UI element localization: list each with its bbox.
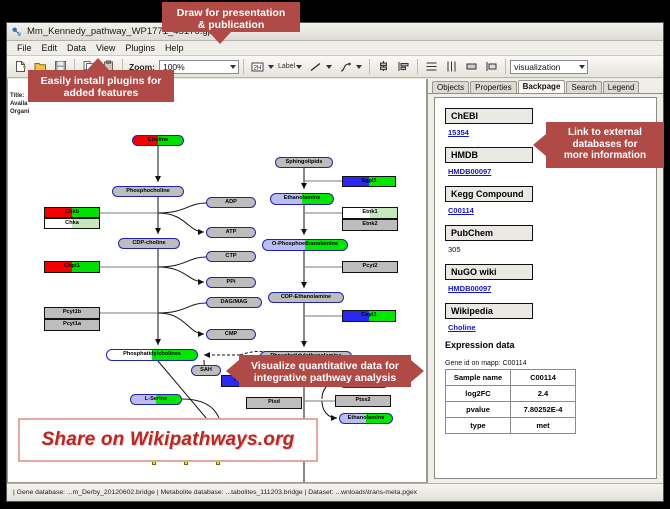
db-name-chebi: ChEBI bbox=[445, 108, 533, 124]
table-row: log2FC 2.4 bbox=[446, 386, 576, 402]
metabolite-cdp-ethanolamine[interactable]: CDP-Ethanolamine bbox=[268, 292, 344, 303]
db-link-wikipedia[interactable]: Choline bbox=[448, 323, 656, 332]
status-bar: | Gene database: ...m_Derby_20120602.bri… bbox=[7, 483, 663, 501]
annotation-plugins-callout: Easily install plugins foradded features bbox=[28, 70, 174, 102]
db-block-nugo: NuGO wiki HMDB00097 bbox=[445, 262, 656, 293]
exp-value-sample-name: C00114 bbox=[511, 370, 576, 386]
annotation-share-banner: Share on Wikipathways.org bbox=[18, 418, 318, 462]
metabolite-sah[interactable]: SAH bbox=[191, 365, 221, 376]
menu-item-file[interactable]: File bbox=[12, 43, 37, 53]
annotation-plugins-pointer bbox=[87, 58, 109, 70]
table-row: Sample name C00114 bbox=[446, 370, 576, 386]
interaction-tool-icon[interactable] bbox=[336, 57, 355, 76]
tab-search[interactable]: Search bbox=[566, 81, 601, 93]
db-name-nugo: NuGO wiki bbox=[445, 264, 533, 280]
gene-chka[interactable]: Chka bbox=[44, 218, 100, 229]
db-name-kegg: Kegg Compound bbox=[445, 186, 533, 202]
line-dropdown-icon[interactable] bbox=[326, 65, 332, 69]
metabolite-phosphatidylcholines[interactable]: Phosphatidylcholines bbox=[106, 349, 198, 361]
expression-data-title: Expression data bbox=[445, 340, 656, 350]
toolbar-separator bbox=[417, 59, 418, 74]
annotation-draw-callout: Draw for presentation& publication bbox=[162, 2, 300, 32]
gene-chkb[interactable]: Chkb bbox=[44, 207, 100, 218]
visualization-value: visualization bbox=[514, 62, 560, 72]
gene-chpt1[interactable]: Chpt1 bbox=[44, 261, 100, 273]
db-link-hmdb[interactable]: HMDB00097 bbox=[448, 167, 656, 176]
metabolite-l-serine-left[interactable]: L-Serine bbox=[130, 394, 182, 405]
exp-key-pvalue: pvalue bbox=[446, 402, 511, 418]
side-panel-tabs[interactable]: Objects Properties Backpage Search Legen… bbox=[428, 79, 663, 94]
metabolite-sphingolipids[interactable]: Sphingolipids bbox=[275, 157, 333, 168]
db-link-kegg[interactable]: C00114 bbox=[448, 206, 656, 215]
gene-cept1[interactable]: Cept1 bbox=[342, 310, 396, 322]
menu-item-edit[interactable]: Edit bbox=[37, 43, 63, 53]
line-tool-icon[interactable] bbox=[306, 57, 325, 76]
svg-text:2H: 2H bbox=[254, 65, 262, 71]
annotation-links-callout: Link to externaldatabases formore inform… bbox=[546, 122, 664, 168]
db-block-pubchem: PubChem 305 bbox=[445, 223, 656, 254]
gene-pcyt1b[interactable]: Pcyt1b bbox=[44, 307, 100, 319]
chevron-down-icon[interactable] bbox=[230, 65, 236, 69]
distribute-vertical-icon[interactable] bbox=[422, 57, 441, 76]
exp-value-log2fc: 2.4 bbox=[511, 386, 576, 402]
exp-key-log2fc: log2FC bbox=[446, 386, 511, 402]
datanode-tool-icon[interactable]: 2H bbox=[248, 57, 267, 76]
menu-bar[interactable]: File Edit Data View Plugins Help bbox=[7, 41, 663, 56]
metabolite-cdp-choline[interactable]: CDP-choline bbox=[118, 238, 180, 249]
chevron-down-icon[interactable] bbox=[579, 65, 585, 69]
toolbar-separator bbox=[243, 59, 244, 74]
db-name-wikipedia: Wikipedia bbox=[445, 303, 533, 319]
gene-ptss2[interactable]: Ptss2 bbox=[335, 395, 391, 407]
annotation-draw-pointer bbox=[209, 32, 231, 44]
metabolite-dag-mag[interactable]: DAG/MAG bbox=[206, 297, 262, 308]
align-top-icon[interactable] bbox=[374, 57, 393, 76]
label-tool-label: Label bbox=[278, 63, 295, 70]
metabolite-phosphocholine[interactable]: Phosphocholine bbox=[112, 186, 184, 197]
table-row: type met bbox=[446, 418, 576, 434]
gene-etnk1[interactable]: Etnk1 bbox=[342, 207, 398, 219]
pathvisio-app-icon bbox=[11, 26, 22, 37]
db-block-kegg: Kegg Compound C00114 bbox=[445, 184, 656, 215]
tab-objects[interactable]: Objects bbox=[432, 81, 469, 93]
metabolite-ethanolamine-bottom[interactable]: Ethanolamine bbox=[339, 413, 393, 424]
tab-backpage[interactable]: Backpage bbox=[518, 80, 566, 93]
db-name-pubchem: PubChem bbox=[445, 225, 533, 241]
exp-value-pvalue: 7.80252E-4 bbox=[511, 402, 576, 418]
exp-value-type: met bbox=[511, 418, 576, 434]
menu-item-help[interactable]: Help bbox=[160, 43, 189, 53]
toolbar-separator bbox=[505, 59, 506, 74]
menu-item-data[interactable]: Data bbox=[62, 43, 91, 53]
db-block-wikipedia: Wikipedia Choline bbox=[445, 301, 656, 332]
db-link-nugo[interactable]: HMDB00097 bbox=[448, 284, 656, 293]
metabolite-ethanolamine-top[interactable]: Ethanolamine bbox=[270, 193, 334, 205]
metabolite-cmp[interactable]: CMP bbox=[206, 329, 256, 340]
title-bar: Mm_Kennedy_pathway_WP1771_45176.gpml bbox=[7, 23, 663, 41]
visualization-combo[interactable]: visualization bbox=[510, 60, 588, 74]
menu-item-view[interactable]: View bbox=[91, 43, 120, 53]
annotation-links-pointer bbox=[533, 134, 546, 156]
expression-table: Sample name C00114 log2FC 2.4 pvalue 7.8… bbox=[445, 369, 576, 434]
exp-key-sample-name: Sample name bbox=[446, 370, 511, 386]
gene-sgpl1[interactable]: Sgpl1 bbox=[342, 176, 396, 187]
tab-legend[interactable]: Legend bbox=[603, 81, 640, 93]
metabolite-adp[interactable]: ADP bbox=[206, 197, 256, 208]
gene-pcyt2[interactable]: Pcyt2 bbox=[342, 261, 398, 273]
gene-pcyt1a[interactable]: Pcyt1a bbox=[44, 319, 100, 331]
metabolite-ctp[interactable]: CTP bbox=[206, 251, 256, 262]
metabolite-o-phosphoethanolamine[interactable]: O-Phosphoethanolamine bbox=[262, 239, 348, 251]
status-text: | Gene database: ...m_Derby_20120602.bri… bbox=[7, 489, 417, 496]
toolbar-separator bbox=[369, 59, 370, 74]
db-name-hmdb: HMDB bbox=[445, 147, 533, 163]
annotation-visualize-callout: Visualize quantitative data forintegrati… bbox=[239, 355, 411, 387]
datanode-dropdown-icon[interactable] bbox=[268, 65, 274, 69]
size-equal-icon[interactable] bbox=[462, 57, 481, 76]
metabolite-atp[interactable]: ATP bbox=[206, 227, 256, 238]
bring-to-front-icon[interactable] bbox=[482, 57, 501, 76]
table-row: pvalue 7.80252E-4 bbox=[446, 402, 576, 418]
label-dropdown-icon[interactable] bbox=[296, 65, 302, 69]
share-banner-text: Share on Wikipathways.org bbox=[42, 429, 295, 451]
gene-etnk2[interactable]: Etnk2 bbox=[342, 219, 398, 231]
align-left-icon[interactable] bbox=[394, 57, 413, 76]
annotation-visualize-pointer-left bbox=[226, 360, 239, 382]
exp-key-type: type bbox=[446, 418, 511, 434]
interaction-dropdown-icon[interactable] bbox=[356, 65, 362, 69]
distribute-horizontal-icon[interactable] bbox=[442, 57, 461, 76]
gene-id-line: Gene id on mapp: C00114 bbox=[445, 360, 656, 367]
annotation-visualize-pointer-right bbox=[411, 360, 424, 382]
menu-item-plugins[interactable]: Plugins bbox=[120, 43, 160, 53]
tab-properties[interactable]: Properties bbox=[470, 81, 516, 93]
metabolite-ppi[interactable]: PPi bbox=[206, 277, 256, 288]
gene-pisd[interactable]: Pisd bbox=[246, 397, 302, 409]
metabolite-choline-top[interactable]: Choline bbox=[132, 135, 184, 146]
db-value-pubchem: 305 bbox=[448, 245, 656, 254]
